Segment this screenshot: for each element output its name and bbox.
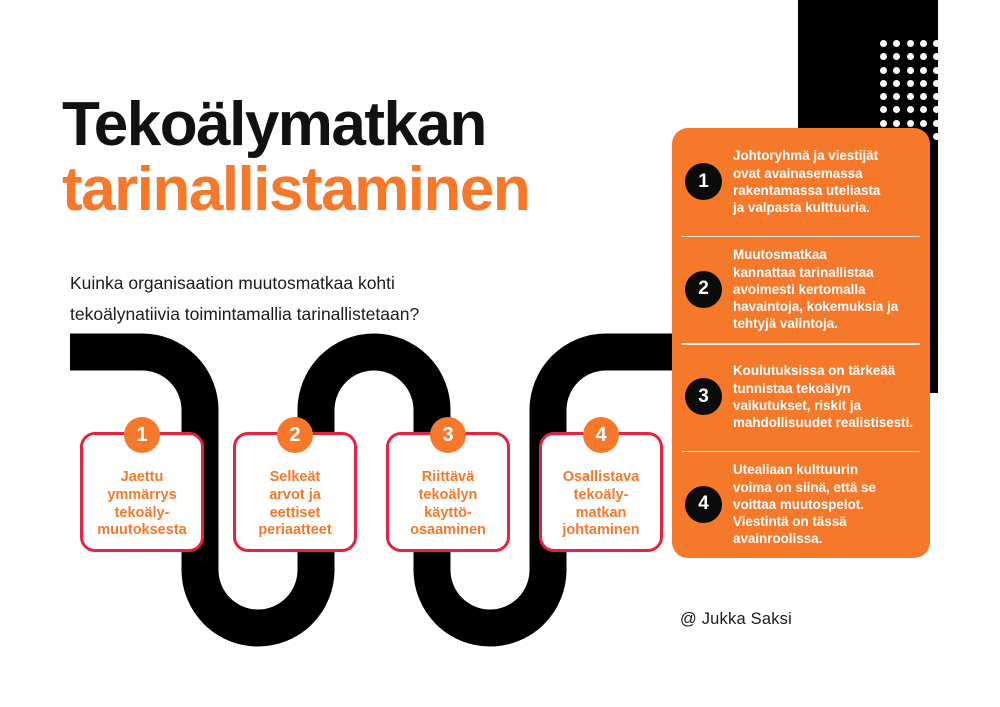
grid-dot bbox=[907, 93, 914, 100]
grid-dot bbox=[907, 67, 914, 74]
grid-dot bbox=[893, 67, 900, 74]
grid-dot bbox=[946, 93, 953, 100]
insight-number-badge: 2 bbox=[685, 271, 722, 308]
grid-dot bbox=[920, 40, 927, 47]
grid-dot bbox=[893, 93, 900, 100]
grid-dot bbox=[907, 40, 914, 47]
grid-dot bbox=[893, 80, 900, 87]
insight-panel: 1 Johtoryhmä ja viestijät ovat avainasem… bbox=[672, 128, 930, 558]
grid-dot bbox=[946, 106, 953, 113]
insight-text: Koulutuksissa on tärkeää tunnistaa tekoä… bbox=[733, 362, 913, 431]
grid-dot bbox=[880, 40, 887, 47]
grid-dot bbox=[933, 40, 940, 47]
grid-dot bbox=[880, 93, 887, 100]
insight-number-badge: 1 bbox=[685, 163, 722, 200]
step-card[interactable]: 4 Osallistava tekoäly- matkan johtaminen bbox=[539, 432, 663, 552]
headline-line-2: tarinallistaminen bbox=[62, 157, 682, 222]
headline-line-1: Tekoälymatkan bbox=[62, 92, 682, 157]
grid-dot bbox=[880, 80, 887, 87]
grid-dot bbox=[880, 120, 887, 127]
grid-dot bbox=[973, 67, 980, 74]
insight-row[interactable]: 3 Koulutuksissa on tärkeää tunnistaa tek… bbox=[672, 343, 930, 451]
grid-dot bbox=[933, 106, 940, 113]
grid-dot bbox=[907, 80, 914, 87]
insight-text: Muutosmatkaa kannattaa tarinallistaa avo… bbox=[733, 246, 898, 332]
step-card-label: Jaettu ymmärrys tekoäly- muutoksesta bbox=[97, 469, 186, 540]
author-credit: @ Jukka Saksi bbox=[680, 610, 792, 629]
grid-dot bbox=[960, 133, 967, 140]
grid-dot bbox=[973, 40, 980, 47]
grid-dot bbox=[907, 53, 914, 60]
step-badge: 3 bbox=[430, 417, 466, 453]
grid-dot bbox=[960, 67, 967, 74]
grid-dot bbox=[973, 106, 980, 113]
grid-dot bbox=[960, 106, 967, 113]
grid-dot bbox=[933, 133, 940, 140]
grid-dot bbox=[973, 133, 980, 140]
grid-dot bbox=[973, 93, 980, 100]
step-card-label: Riittävä tekoälyn käyttö- osaaminen bbox=[410, 469, 486, 540]
grid-dot bbox=[893, 53, 900, 60]
insight-row[interactable]: 2 Muutosmatkaa kannattaa tarinallistaa a… bbox=[672, 236, 930, 344]
grid-dot bbox=[920, 106, 927, 113]
grid-dot bbox=[933, 93, 940, 100]
subtitle: Kuinka organisaation muutosmatkaa kohti … bbox=[70, 268, 590, 329]
grid-dot bbox=[933, 80, 940, 87]
insight-row[interactable]: 1 Johtoryhmä ja viestijät ovat avainasem… bbox=[672, 128, 930, 236]
step-badge: 2 bbox=[277, 417, 313, 453]
subtitle-line-1: Kuinka organisaation muutosmatkaa kohti bbox=[70, 268, 590, 299]
grid-dot bbox=[946, 53, 953, 60]
insight-text: Johtoryhmä ja viestijät ovat avainasemas… bbox=[733, 147, 880, 216]
grid-dot bbox=[893, 40, 900, 47]
page-title: Tekoälymatkan tarinallistaminen bbox=[62, 92, 682, 222]
grid-dot bbox=[920, 80, 927, 87]
step-card-label: Selkeät arvot ja eettiset periaatteet bbox=[258, 469, 331, 540]
grid-dot bbox=[920, 67, 927, 74]
grid-dot bbox=[960, 80, 967, 87]
grid-dot bbox=[946, 133, 953, 140]
grid-dot bbox=[973, 53, 980, 60]
grid-dot bbox=[960, 40, 967, 47]
grid-dot bbox=[933, 120, 940, 127]
grid-dot bbox=[973, 120, 980, 127]
grid-dot bbox=[920, 53, 927, 60]
grid-dot bbox=[960, 120, 967, 127]
step-card[interactable]: 3 Riittävä tekoälyn käyttö- osaaminen bbox=[386, 432, 510, 552]
step-card[interactable]: 2 Selkeät arvot ja eettiset periaatteet bbox=[233, 432, 357, 552]
infographic-canvas: Tekoälymatkan tarinallistaminen Kuinka o… bbox=[0, 0, 1000, 707]
grid-dot bbox=[880, 67, 887, 74]
grid-dot bbox=[960, 53, 967, 60]
grid-dot bbox=[946, 40, 953, 47]
step-badge: 4 bbox=[583, 417, 619, 453]
grid-dot bbox=[946, 80, 953, 87]
step-card[interactable]: 1 Jaettu ymmärrys tekoäly- muutoksesta bbox=[80, 432, 204, 552]
grid-dot bbox=[920, 93, 927, 100]
grid-dot bbox=[907, 120, 914, 127]
insight-text: Utealiaan kulttuurin voima on siinä, ett… bbox=[733, 461, 876, 547]
insight-number-badge: 4 bbox=[685, 486, 722, 523]
grid-dot bbox=[946, 120, 953, 127]
grid-dot bbox=[946, 67, 953, 74]
subtitle-line-2: tekoälynatiivia toimintamallia tarinalli… bbox=[70, 299, 590, 330]
insight-number-badge: 3 bbox=[685, 378, 722, 415]
grid-dot bbox=[960, 93, 967, 100]
grid-dot bbox=[920, 120, 927, 127]
step-card-label: Osallistava tekoäly- matkan johtaminen bbox=[562, 469, 639, 540]
grid-dot bbox=[880, 106, 887, 113]
step-badge: 1 bbox=[124, 417, 160, 453]
grid-dot bbox=[907, 106, 914, 113]
grid-dot bbox=[893, 106, 900, 113]
grid-dot bbox=[933, 53, 940, 60]
grid-dot bbox=[973, 80, 980, 87]
grid-dot bbox=[880, 53, 887, 60]
insight-row[interactable]: 4 Utealiaan kulttuurin voima on siinä, e… bbox=[672, 451, 930, 559]
grid-dot bbox=[933, 67, 940, 74]
grid-dot bbox=[893, 120, 900, 127]
